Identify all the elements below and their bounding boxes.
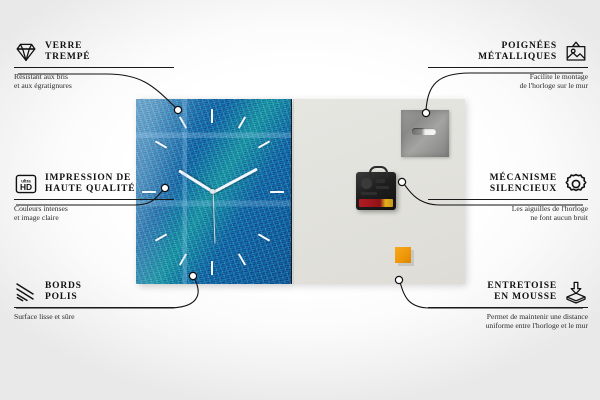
- feature-divider: [14, 307, 174, 308]
- clock-tick: [179, 116, 187, 128]
- feature-divider: [428, 199, 588, 200]
- mechanism-detail: [361, 192, 377, 195]
- feature-title-line1: MÉCANISME: [490, 173, 557, 185]
- mechanism-detail: [376, 186, 389, 189]
- feature-desc-line2: uniforme entre l'horloge et le mur: [428, 321, 588, 331]
- feature-desc-line1: Surface lisse et sûre: [14, 312, 174, 322]
- feature-desc-line1: Les aiguilles de l'horloge: [428, 204, 588, 214]
- feature-desc-line1: Facilite le montage: [428, 72, 588, 82]
- clock-second-hand: [212, 192, 215, 244]
- diamond-icon: [14, 40, 38, 64]
- feature-divider: [14, 67, 174, 68]
- infographic-canvas: VERRE TREMPÉ Résistant aux bris et aux é…: [0, 0, 600, 400]
- mechanism-detail: [376, 179, 385, 183]
- product-photo: [136, 99, 464, 284]
- feature-impression-haute-qualite[interactable]: ultra HD IMPRESSION DE HAUTE QUALITÉ Cou…: [14, 172, 174, 223]
- feature-title-line1: ENTRETOISE: [487, 281, 557, 293]
- feature-desc-line2: de l'horloge sur le mur: [428, 81, 588, 91]
- feature-title-line2: TREMPÉ: [45, 52, 90, 64]
- clock-tick: [238, 253, 246, 265]
- clock-minute-hand: [212, 167, 258, 193]
- feature-title-line2: MÉTALLIQUES: [478, 52, 557, 64]
- metal-hanger-plate: [401, 110, 449, 157]
- feature-verre-trempe[interactable]: VERRE TREMPÉ Résistant aux bris et aux é…: [14, 40, 174, 91]
- feature-desc-line2: et image claire: [14, 213, 174, 223]
- feature-desc-line2: ne font aucun bruit: [428, 213, 588, 223]
- mechanism-battery: [359, 199, 393, 207]
- foam-spacer-icon: [564, 280, 588, 304]
- feature-title-line2: HAUTE QUALITÉ: [45, 184, 135, 196]
- clock-mechanism-housing: [356, 172, 396, 210]
- feature-divider: [428, 67, 588, 68]
- feature-divider: [428, 307, 588, 308]
- clock-tick: [211, 261, 213, 275]
- feature-title-line2: EN MOUSSE: [487, 292, 557, 304]
- clock-tick: [155, 140, 167, 148]
- clock-tick: [238, 116, 246, 128]
- foam-spacer-pad: [395, 247, 411, 263]
- feature-title-line1: POIGNÉES: [478, 41, 557, 53]
- ultra-hd-icon: ultra HD: [14, 172, 38, 196]
- feature-mecanisme-silencieux[interactable]: MÉCANISME SILENCIEUX Les aiguilles de l'…: [428, 172, 588, 223]
- clock-tick: [211, 109, 213, 123]
- clock-tick: [179, 253, 187, 265]
- clock-tick: [155, 233, 167, 241]
- hanger-keyhole-slot: [412, 128, 436, 135]
- gear-icon: [564, 172, 588, 196]
- feature-desc-line1: Permet de maintenir une distance: [428, 312, 588, 322]
- clock-center-cap: [210, 189, 215, 194]
- clock-hour-hand: [178, 169, 214, 193]
- feature-bords-polis[interactable]: BORDS POLIS Surface lisse et sûre: [14, 280, 174, 321]
- hanging-frame-icon: [564, 40, 588, 64]
- feature-desc-line1: Couleurs intenses: [14, 204, 174, 214]
- svg-text:HD: HD: [20, 182, 32, 192]
- feature-title-line2: SILENCIEUX: [490, 184, 557, 196]
- clock-tick: [258, 233, 270, 241]
- feature-divider: [14, 199, 174, 200]
- feature-poignees-metalliques[interactable]: POIGNÉES MÉTALLIQUES Facilite le montage…: [428, 40, 588, 91]
- feature-desc-line2: et aux égratignures: [14, 81, 174, 91]
- feature-title-line1: VERRE: [45, 41, 90, 53]
- feature-desc-line1: Résistant aux bris: [14, 72, 174, 82]
- mechanism-hook: [369, 166, 388, 177]
- clock-tick: [258, 140, 270, 148]
- polished-edges-icon: [14, 280, 38, 304]
- mechanism-detail: [361, 178, 372, 189]
- feature-entretoise-en-mousse[interactable]: ENTRETOISE EN MOUSSE Permet de maintenir…: [428, 280, 588, 331]
- feature-title-line1: IMPRESSION DE: [45, 173, 135, 185]
- clock-tick: [270, 191, 284, 193]
- feature-title-line2: POLIS: [45, 292, 82, 304]
- feature-title-line1: BORDS: [45, 281, 82, 293]
